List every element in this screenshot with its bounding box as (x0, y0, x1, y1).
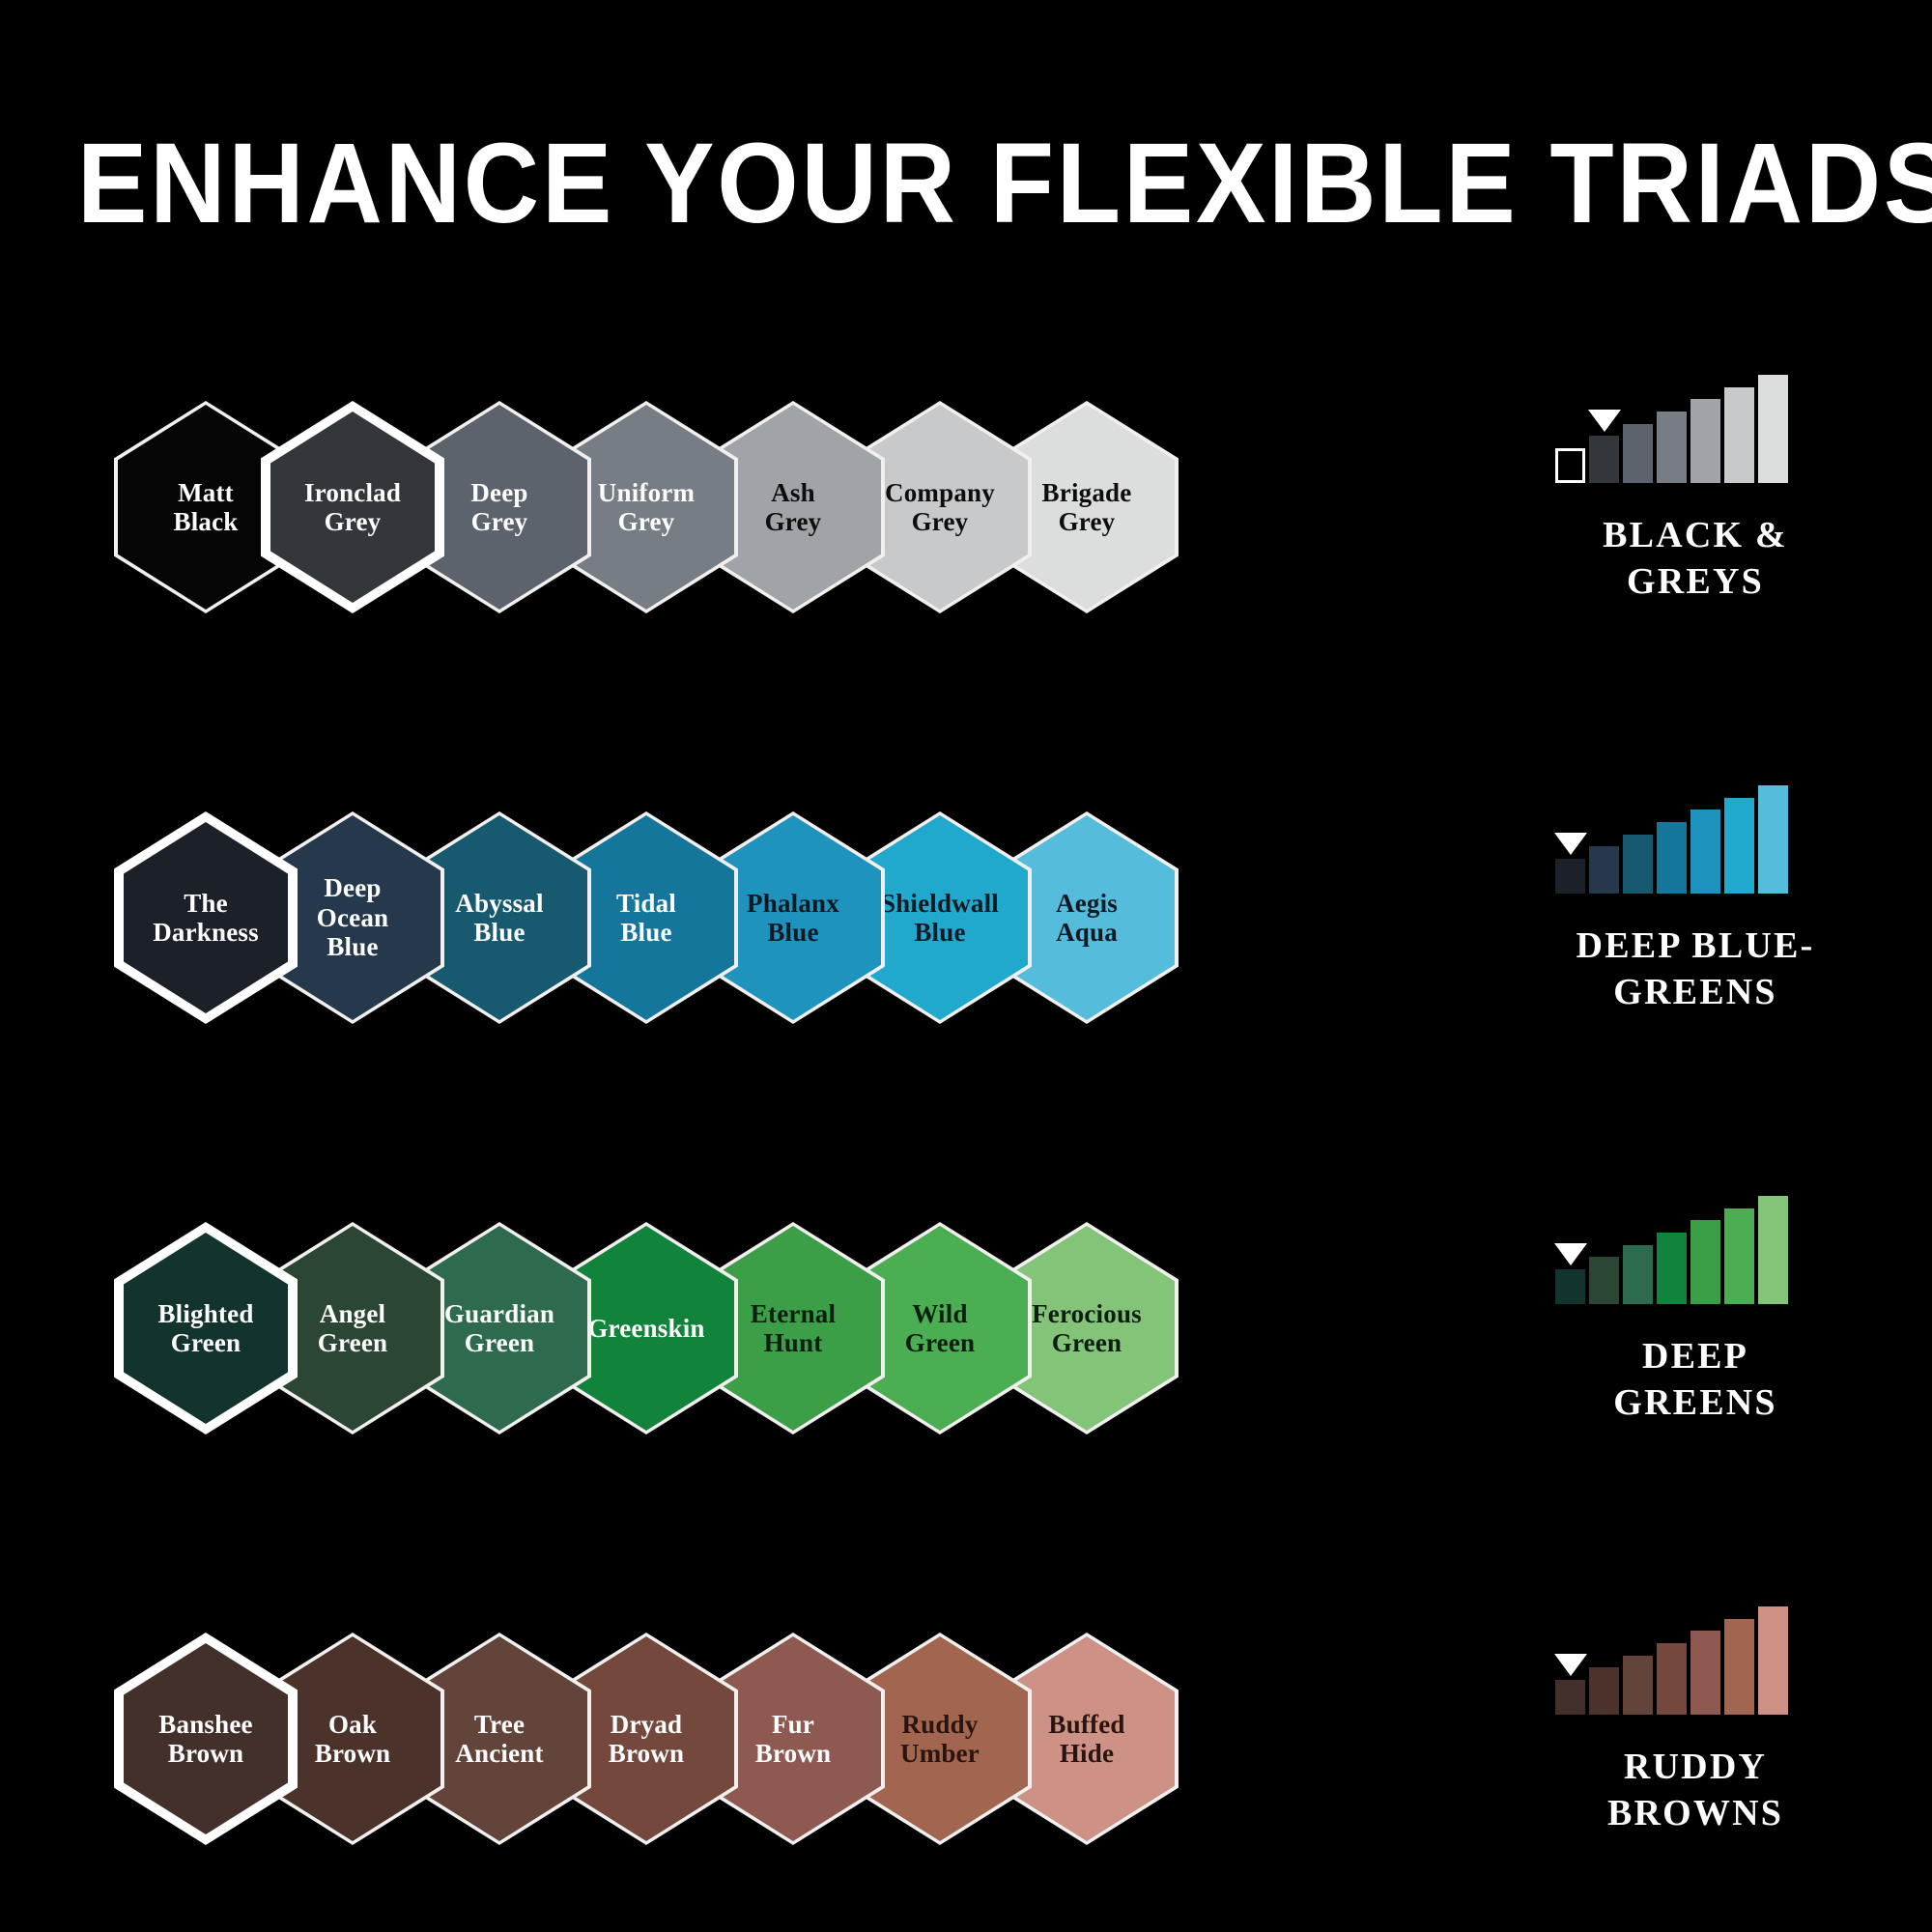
ramp-bar (1589, 1257, 1619, 1304)
ramp-bar (1724, 798, 1754, 894)
swatch-fill: BansheeBrown (124, 1643, 288, 1834)
ramp-bar (1623, 424, 1653, 483)
ramp-bars (1555, 375, 1791, 483)
swatch-fill: IroncladGrey (270, 412, 435, 603)
ramp-title-line1: BLACK & (1555, 512, 1835, 558)
ramp-bars (1555, 785, 1791, 894)
ramp-bar (1690, 399, 1720, 483)
ramp-bar (1623, 835, 1653, 894)
ramp-bar (1724, 387, 1754, 483)
ramp-bar (1623, 1245, 1653, 1304)
swatch-fill: TheDarkness (124, 822, 288, 1013)
swatch-label: IroncladGrey (270, 478, 435, 537)
ramp-title: DEEPGREENS (1555, 1333, 1835, 1427)
ramp-bar (1690, 1220, 1720, 1304)
ramp-ruddy-browns: RUDDYBROWNS (1555, 1579, 1874, 1898)
triad-row-deep-blue-greens: TheDarknessDeepOceanBlueAbyssalBlueTidal… (0, 758, 1932, 1077)
ramp-deep-blue-greens: DEEP BLUE-GREENS (1555, 758, 1874, 1077)
ramp-bar (1690, 810, 1720, 894)
ramp-title: DEEP BLUE-GREENS (1555, 923, 1835, 1016)
ramp-title: RUDDYBROWNS (1555, 1744, 1835, 1837)
ramp-title-line2: BROWNS (1555, 1790, 1835, 1836)
ramp-pointer-triangle-icon (1588, 410, 1621, 432)
triad-row-deep-greens: BlightedGreenAngelGreenGuardianGreenGree… (0, 1169, 1932, 1488)
ramp-pointer-triangle-icon (1554, 833, 1587, 855)
triad-rows: MattBlackIroncladGreyDeepGreyUniformGrey… (0, 0, 1932, 1932)
swatch-strip-deep-blue-greens: TheDarknessDeepOceanBlueAbyssalBlueTidal… (114, 758, 1142, 1077)
swatch-hex[interactable]: IroncladGrey (261, 401, 408, 613)
ramp-bar (1758, 1606, 1788, 1715)
swatch-label: BansheeBrown (124, 1710, 288, 1769)
ramp-bar (1555, 448, 1585, 483)
ramp-bar (1758, 1196, 1788, 1304)
ramp-title: BLACK &GREYS (1555, 512, 1835, 606)
ramp-title-line1: RUDDY (1555, 1744, 1835, 1790)
swatch-label: BlightedGreen (124, 1299, 288, 1358)
ramp-bar (1555, 859, 1585, 894)
ramp-bar (1589, 436, 1619, 483)
triad-row-black-and-greys: MattBlackIroncladGreyDeepGreyUniformGrey… (0, 348, 1932, 667)
ramp-bar (1657, 822, 1687, 894)
ramp-bar (1758, 785, 1788, 894)
swatch-hex[interactable]: BansheeBrown (114, 1633, 261, 1845)
ramp-pointer-triangle-icon (1554, 1243, 1587, 1265)
ramp-bar (1589, 1667, 1619, 1715)
ramp-title-line1: DEEP (1555, 1333, 1835, 1379)
ramp-bar (1657, 412, 1687, 483)
ramp-bar (1724, 1208, 1754, 1304)
ramp-title-line1: DEEP BLUE- (1555, 923, 1835, 969)
ramp-title-line2: GREYS (1555, 558, 1835, 605)
swatch-label: TheDarkness (124, 889, 288, 948)
ramp-pointer-triangle-icon (1554, 1654, 1587, 1676)
ramp-black-and-greys: BLACK &GREYS (1555, 348, 1874, 667)
ramp-bar (1758, 375, 1788, 483)
ramp-bar (1690, 1631, 1720, 1715)
swatch-hex[interactable]: MattBlack (114, 401, 261, 613)
ramp-bars (1555, 1606, 1791, 1715)
swatch-fill: BlightedGreen (124, 1233, 288, 1424)
swatch-strip-ruddy-browns: BansheeBrownOakBrownTreeAncientDryadBrow… (114, 1579, 1142, 1898)
swatch-strip-black-and-greys: MattBlackIroncladGreyDeepGreyUniformGrey… (114, 348, 1142, 667)
ramp-title-line2: GREENS (1555, 1379, 1835, 1426)
ramp-bar (1555, 1269, 1585, 1304)
ramp-bar (1657, 1233, 1687, 1304)
swatch-hex[interactable]: TheDarkness (114, 811, 261, 1024)
ramp-bar (1623, 1656, 1653, 1715)
ramp-title-line2: GREENS (1555, 969, 1835, 1015)
ramp-bar (1724, 1619, 1754, 1715)
ramp-deep-greens: DEEPGREENS (1555, 1169, 1874, 1488)
ramp-bar (1589, 846, 1619, 894)
swatch-strip-deep-greens: BlightedGreenAngelGreenGuardianGreenGree… (114, 1169, 1142, 1488)
ramp-bar (1555, 1680, 1585, 1715)
ramp-bars (1555, 1196, 1791, 1304)
ramp-bar (1657, 1643, 1687, 1715)
triad-row-ruddy-browns: BansheeBrownOakBrownTreeAncientDryadBrow… (0, 1579, 1932, 1898)
swatch-hex[interactable]: BlightedGreen (114, 1222, 261, 1435)
